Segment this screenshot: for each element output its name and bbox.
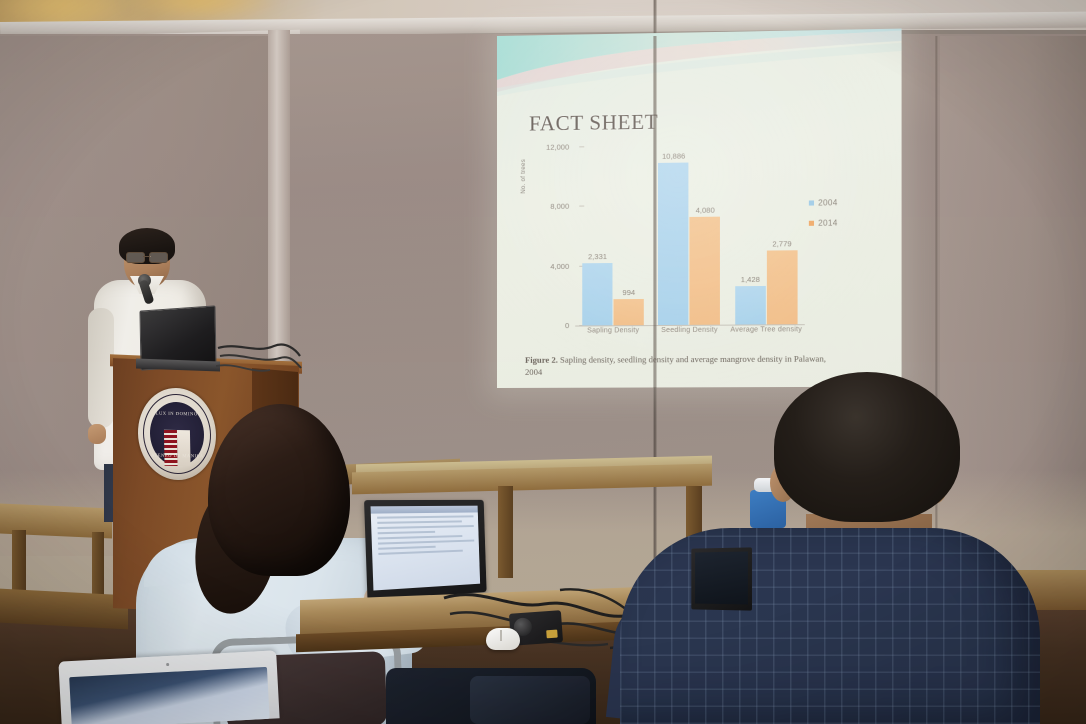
legend-entry-2004: 2004 <box>809 198 877 208</box>
legend-label: 2004 <box>818 198 838 207</box>
white-laptop-screen <box>69 667 269 724</box>
screen-text-line <box>377 520 461 523</box>
device-indicator <box>546 630 558 639</box>
screen-text-line <box>377 525 473 529</box>
legend-label: 2014 <box>818 218 838 227</box>
laptop-bag <box>470 676 590 724</box>
back-table-leg <box>498 486 513 578</box>
plot-area: 2,331 994 10,886 4,080 <box>575 144 805 327</box>
screen-text-line <box>378 531 435 534</box>
y-axis-ticks: 0 4,000 8,000 12,000 <box>529 147 573 326</box>
white-laptop-lid <box>58 650 279 724</box>
presentation-room-photo: FACT SHEET No. of trees 0 4,000 8,000 12… <box>0 0 1086 724</box>
screen-toolbar <box>371 506 478 514</box>
chart-legend: 2004 2014 <box>809 198 877 239</box>
audience-man <box>584 372 1040 724</box>
bar-2014-seedling: 4,080 <box>690 216 721 325</box>
legend-entry-2014: 2014 <box>809 218 877 228</box>
slide-title: FACT SHEET <box>529 110 658 137</box>
x-tick-label: Seedling Density <box>651 327 728 334</box>
screen-text-line <box>378 540 474 545</box>
bar-group-average-tree: 1,428 2,779 <box>728 144 805 325</box>
man-shirt-plaid-pattern <box>620 528 1040 724</box>
y-axis-label: No. of trees <box>521 159 527 194</box>
y-tick-label: 4,000 <box>550 262 569 271</box>
bar-groups: 2,331 994 10,886 4,080 <box>575 144 805 326</box>
bar-value-label: 2,779 <box>772 239 791 248</box>
bar-value-label: 1,428 <box>741 275 760 284</box>
bar-2004-average: 1,428 <box>735 286 766 324</box>
figure-caption-number: Figure 2. <box>525 355 558 365</box>
bar-2014-average: 2,779 <box>767 250 798 324</box>
legend-swatch-icon <box>809 221 814 226</box>
bar-value-label: 994 <box>622 288 635 297</box>
bar-2014-sapling: 994 <box>614 299 644 326</box>
glasses-lens <box>126 252 145 263</box>
man-laptop <box>691 547 752 610</box>
bar-2004-sapling: 2,331 <box>582 263 612 325</box>
left-table-lower <box>0 589 128 630</box>
bar-chart: No. of trees 0 4,000 8,000 12,000 2,331 <box>519 143 885 344</box>
screen-text-line <box>377 515 473 518</box>
laptop-screen <box>371 506 481 591</box>
wall-seam-over-slide <box>653 36 657 388</box>
y-tick-label: 12,000 <box>546 143 569 152</box>
x-axis-labels: Sapling Density Seedling Density Average… <box>575 326 805 334</box>
x-tick-label: Sapling Density <box>575 327 651 334</box>
foreground-white-laptop <box>60 656 278 724</box>
legend-swatch-icon <box>809 200 814 205</box>
bar-2004-seedling: 10,886 <box>658 162 688 325</box>
webcam-icon <box>166 663 169 666</box>
man-laptop-screen <box>695 551 748 604</box>
computer-mouse <box>486 628 520 650</box>
bar-value-label: 2,331 <box>588 252 607 261</box>
y-tick-label: 8,000 <box>550 202 569 211</box>
y-tick-label: 0 <box>565 321 569 330</box>
man-hair <box>774 372 960 522</box>
eyeglasses-icon <box>126 252 168 261</box>
screen-text-line <box>378 535 462 539</box>
presenter-hand <box>88 424 106 444</box>
slide-header-swoosh <box>497 29 902 96</box>
x-tick-label: Average Tree density <box>728 326 805 334</box>
bar-group-sapling: 2,331 994 <box>575 146 651 326</box>
bar-value-label: 4,080 <box>696 205 715 214</box>
projected-slide: FACT SHEET No. of trees 0 4,000 8,000 12… <box>497 29 902 388</box>
screen-text-line <box>378 550 462 555</box>
woman-hair <box>208 404 350 576</box>
screen-text-line <box>378 546 435 550</box>
mouse-button-divider <box>500 630 502 641</box>
glasses-lens <box>149 252 168 263</box>
bar-group-seedling: 10,886 4,080 <box>651 145 728 325</box>
bar-value-label: 10,886 <box>662 151 685 160</box>
presenter-arm <box>88 308 114 428</box>
podium-cables <box>216 340 302 382</box>
